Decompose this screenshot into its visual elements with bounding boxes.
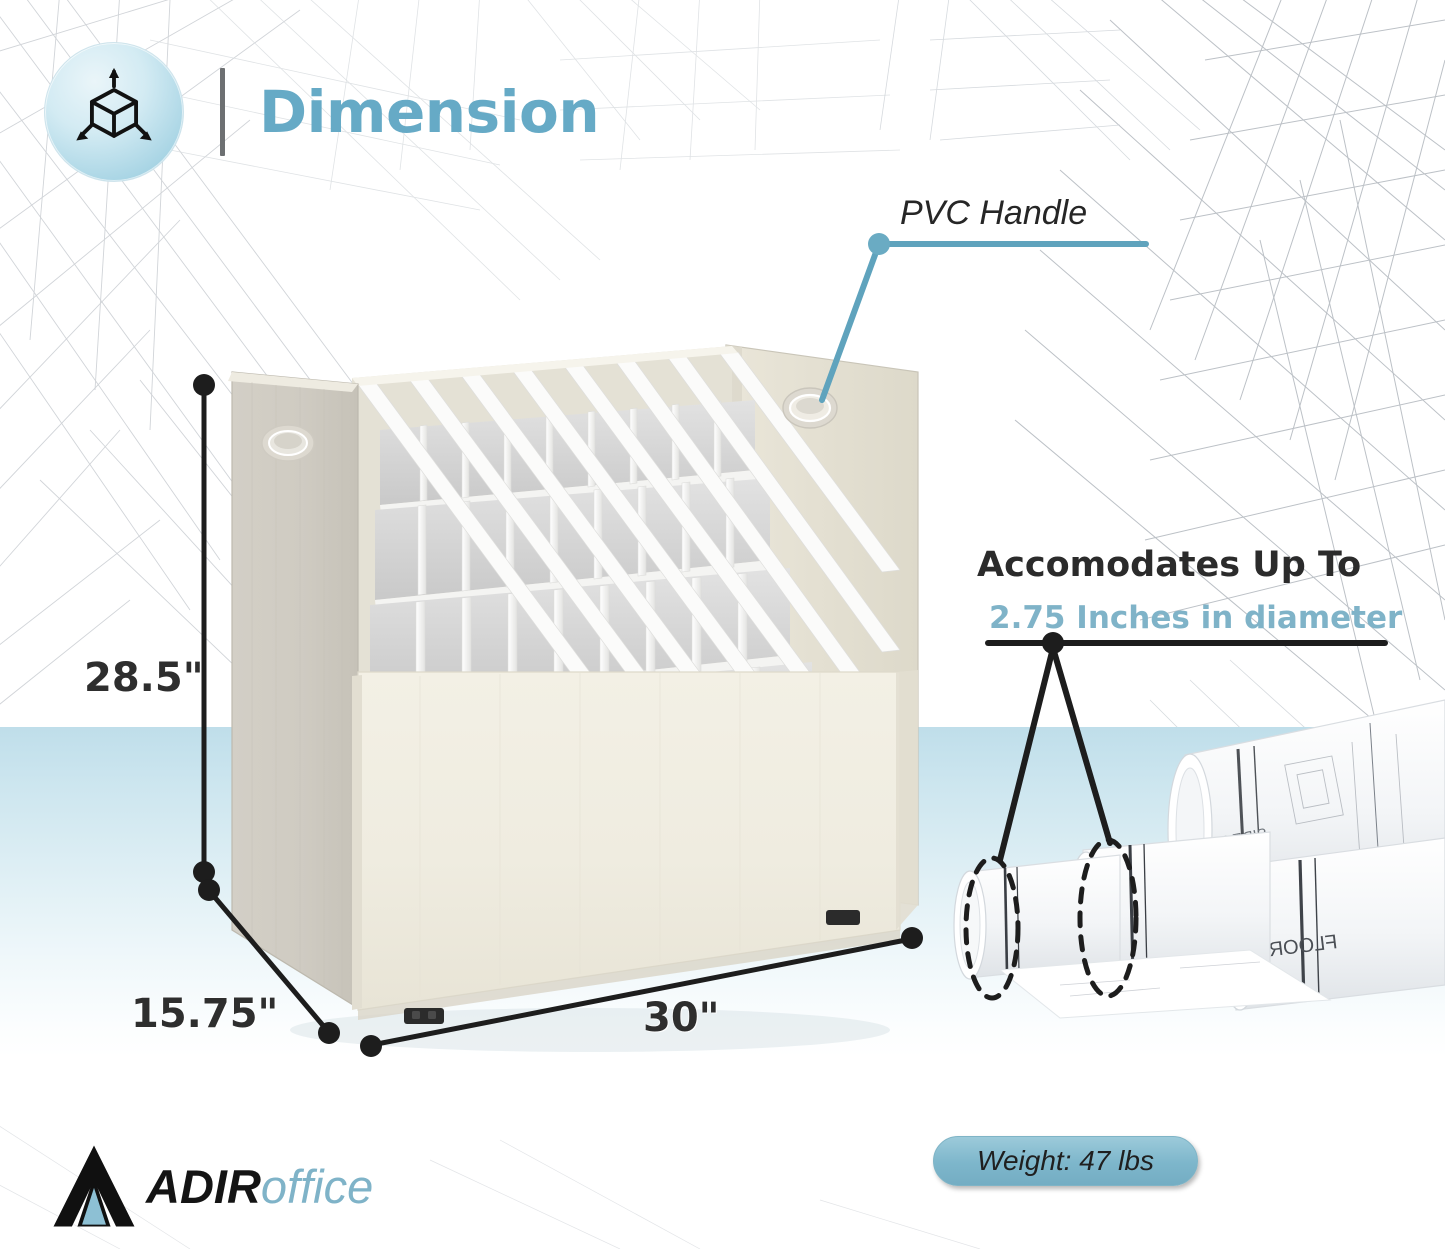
infographic-canvas: Dimension [0, 0, 1445, 1249]
brand-name-primary: ADIR [146, 1160, 261, 1213]
pvc-handle-callout-label: PVC Handle [900, 194, 1087, 233]
header: Dimension [44, 42, 599, 182]
weight-badge-label: Weight: 47 lbs [977, 1145, 1154, 1177]
dimension-cube-icon [44, 42, 184, 182]
adir-chevron-logo-icon [48, 1140, 140, 1232]
weight-badge: Weight: 47 lbs [933, 1136, 1198, 1186]
capacity-subtitle: 2.75 Inches in diameter [989, 600, 1402, 636]
header-divider [220, 68, 225, 156]
pvc-handle-leader [822, 233, 1146, 400]
width-dimension-label: 30" [643, 995, 720, 1041]
brand-name: ADIRoffice [146, 1163, 373, 1210]
brand-logo: ADIRoffice [48, 1140, 373, 1232]
depth-dimension-label: 15.75" [131, 991, 278, 1037]
brand-name-secondary: office [261, 1160, 373, 1213]
height-dimension-label: 28.5" [84, 655, 204, 701]
page-title: Dimension [259, 83, 599, 141]
capacity-title: Accomodates Up To [977, 545, 1361, 585]
